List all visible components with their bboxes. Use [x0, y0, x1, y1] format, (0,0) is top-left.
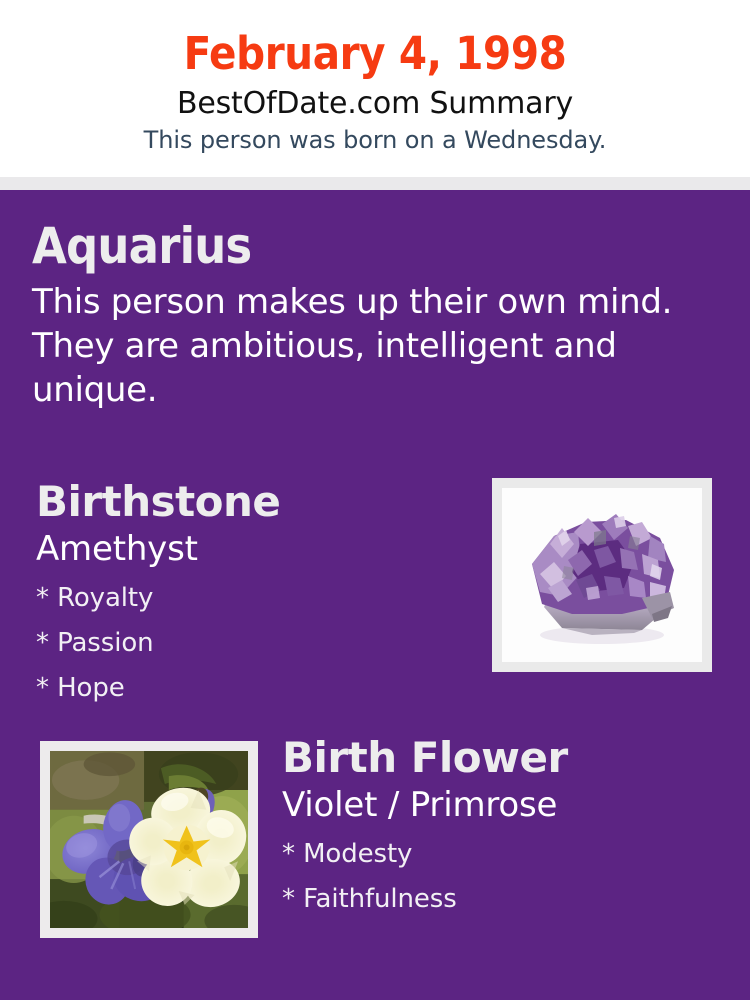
content-panel: Aquarius This person makes up their own … [0, 190, 750, 1000]
violet-primrose-flower-icon [50, 751, 248, 928]
birthstone-image-frame [492, 478, 712, 672]
birth-weekday-text: This person was born on a Wednesday. [0, 122, 750, 155]
list-item: * Passion [36, 621, 466, 666]
site-name: BestOfDate.com Summary [0, 80, 750, 122]
birthstone-heading: Birthstone [36, 478, 466, 526]
card-header: February 4, 1998 BestOfDate.com Summary … [0, 0, 750, 177]
page-title-date: February 4, 1998 [0, 0, 750, 80]
birth-flower-name: Violet / Primrose [282, 782, 732, 826]
birthstone-section: Birthstone Amethyst * Royalty * Passion … [36, 478, 466, 711]
birth-flower-heading: Birth Flower [282, 734, 732, 782]
zodiac-sign-name: Aquarius [32, 218, 692, 274]
list-item: * Faithfulness [282, 877, 732, 922]
amethyst-photo [502, 488, 702, 662]
birthstone-name: Amethyst [36, 526, 466, 570]
list-item: * Modesty [282, 832, 732, 877]
list-item: * Hope [36, 666, 466, 711]
list-item: * Royalty [36, 576, 466, 621]
amethyst-crystal-icon [502, 488, 702, 662]
birth-flower-image-frame [40, 741, 258, 938]
birth-flower-trait-list: * Modesty * Faithfulness [282, 826, 732, 922]
zodiac-description: This person makes up their own mind. The… [32, 274, 692, 412]
violet-primrose-photo [50, 751, 248, 928]
summary-card: February 4, 1998 BestOfDate.com Summary … [0, 0, 750, 1000]
zodiac-section: Aquarius This person makes up their own … [32, 218, 692, 412]
birthstone-trait-list: * Royalty * Passion * Hope [36, 570, 466, 711]
header-divider [0, 177, 750, 190]
birth-flower-section: Birth Flower Violet / Primrose * Modesty… [282, 734, 732, 922]
